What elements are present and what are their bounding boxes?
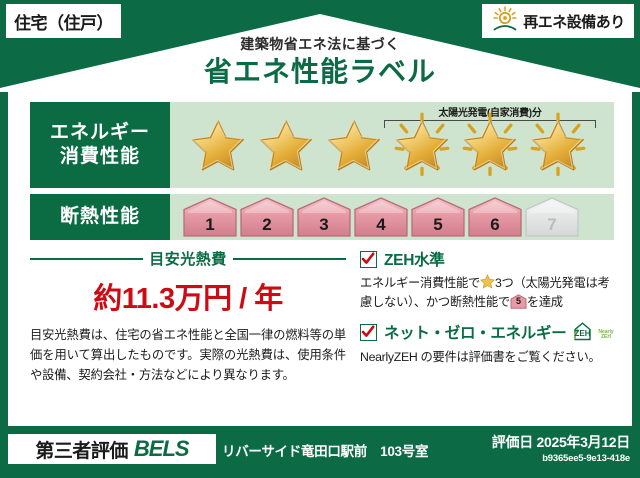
property-address: リバーサイド竜田口駅前 103号室: [222, 440, 428, 460]
evaluation-date: 評価日 2025年3月12日: [492, 432, 630, 452]
renewable-equipment-label: 再エネ設備あり: [523, 11, 625, 32]
inline-star-icon: [480, 274, 495, 289]
insulation-house-number: 5: [410, 215, 466, 235]
heading-rule-right: [233, 258, 346, 260]
insulation-performance-key: 断熱性能: [30, 194, 170, 240]
dwelling-type-label: 住宅（住戸）: [14, 9, 113, 34]
insulation-performance-row: 断熱性能 1: [30, 194, 614, 240]
utility-cost-note: 目安光熱費は、住宅の省エネ性能と全国一律の燃料等の単価を用いて算出したものです。…: [30, 326, 346, 386]
insulation-house-number: 1: [182, 215, 238, 235]
dwelling-type-badge: 住宅（住戸）: [6, 4, 121, 38]
bels-badge: 第三者評価 BELS: [8, 434, 216, 464]
evaluation-id: b9365ee5-9e13-418e: [492, 453, 630, 464]
energy-label-line1: エネルギー: [50, 121, 150, 145]
energy-label-line2: 消費性能: [60, 145, 140, 169]
utility-cost-amount: 約11.3万円 / 年: [30, 275, 346, 317]
zeh-block: ZEH水準 エネルギー消費性能で3つ（太陽光発電は考慮しない）、かつ断熱性能で5…: [360, 248, 614, 375]
energy-performance-value: 太陽光発電(自家消費)分: [170, 102, 614, 188]
energy-performance-row: エネルギー 消費性能 太陽光発電(自家消費)分: [30, 102, 614, 188]
net-zero-energy-item: ネット・ゼロ・エネルギー ZEH Nearly ZEH NearlyZEH の要…: [360, 320, 614, 367]
sun-renewable-icon: [491, 5, 519, 38]
heading-rule-left: [30, 258, 143, 260]
utility-cost-heading: 目安光熱費: [30, 248, 346, 269]
zeh-standard-heading: ZEH水準: [360, 248, 614, 270]
nearly-zeh-logo-icon: ZEH Nearly ZEH: [573, 320, 619, 344]
star-icon: [252, 112, 320, 178]
net-zero-energy-title: ネット・ゼロ・エネルギー: [384, 321, 566, 343]
star-icon: [184, 112, 252, 178]
title-subtitle: 建築物省エネ法に基づく: [0, 36, 640, 53]
label-footer: 第三者評価 BELS リバーサイド竜田口駅前 103号室 評価日 2025年3月…: [0, 428, 640, 478]
star-icon-solar: [456, 112, 524, 178]
insulation-house-number: 7: [524, 215, 580, 235]
zeh-standard-description: エネルギー消費性能で3つ（太陽光発電は考慮しない）、かつ断熱性能で5を達成: [360, 274, 614, 312]
insulation-house-number: 4: [353, 215, 409, 235]
insulation-house-number: 2: [239, 215, 295, 235]
label-body-card: エネルギー 消費性能 太陽光発電(自家消費)分: [8, 88, 632, 426]
net-zero-energy-description: NearlyZEH の要件は評価書をご覧ください。: [360, 348, 614, 367]
evaluation-meta: 評価日 2025年3月12日 b9365ee5-9e13-418e: [492, 432, 630, 464]
insulation-performance-value: 1 2: [170, 194, 614, 240]
star-icon-solar: [388, 112, 456, 178]
inline-house-badge-icon: 5: [510, 294, 527, 309]
checkmark-icon: [360, 251, 377, 268]
zeh-standard-title: ZEH水準: [384, 248, 445, 270]
zeh-desc-part-a: エネルギー消費性能で: [360, 276, 480, 290]
star-icon: [320, 112, 388, 178]
inline-house-number: 5: [510, 295, 527, 309]
checkmark-icon: [360, 324, 377, 341]
insulation-house-on: 3: [296, 196, 352, 238]
svg-text:ZEH: ZEH: [575, 329, 591, 338]
title-main: 省エネ性能ラベル: [0, 54, 640, 89]
utility-cost-title: 目安光熱費: [149, 248, 227, 269]
insulation-house-on: 1: [182, 196, 238, 238]
energy-performance-key: エネルギー 消費性能: [30, 102, 170, 188]
energy-performance-label: 住宅（住戸） 再エネ設備あり 建築物省エネ法に基づく: [0, 0, 640, 478]
renewable-equipment-badge: 再エネ設備あり: [482, 4, 634, 38]
insulation-house-on: 5: [410, 196, 466, 238]
utility-cost-block: 目安光熱費 約11.3万円 / 年 目安光熱費は、住宅の省エネ性能と全国一律の燃…: [30, 248, 346, 386]
star-icon-solar: [524, 112, 592, 178]
bels-japanese-label: 第三者評価: [35, 436, 128, 463]
insulation-house-on: 4: [353, 196, 409, 238]
insulation-house-on: 6: [467, 196, 523, 238]
bels-logo-text: BELS: [134, 436, 189, 462]
insulation-level-scale: 1 2: [170, 194, 614, 240]
insulation-house-number: 3: [296, 215, 352, 235]
zeh-standard-item: ZEH水準 エネルギー消費性能で3つ（太陽光発電は考慮しない）、かつ断熱性能で5…: [360, 248, 614, 312]
insulation-house-number: 6: [467, 215, 523, 235]
insulation-house-off: 7: [524, 196, 580, 238]
insulation-house-on: 2: [239, 196, 295, 238]
label-title: 建築物省エネ法に基づく 省エネ性能ラベル: [0, 36, 640, 89]
net-zero-energy-heading: ネット・ゼロ・エネルギー ZEH Nearly ZEH: [360, 320, 614, 344]
insulation-label: 断熱性能: [60, 205, 140, 229]
zeh-desc-part-c: を達成: [527, 295, 563, 309]
star-rating: [170, 102, 614, 188]
svg-text:ZEH: ZEH: [601, 334, 611, 340]
